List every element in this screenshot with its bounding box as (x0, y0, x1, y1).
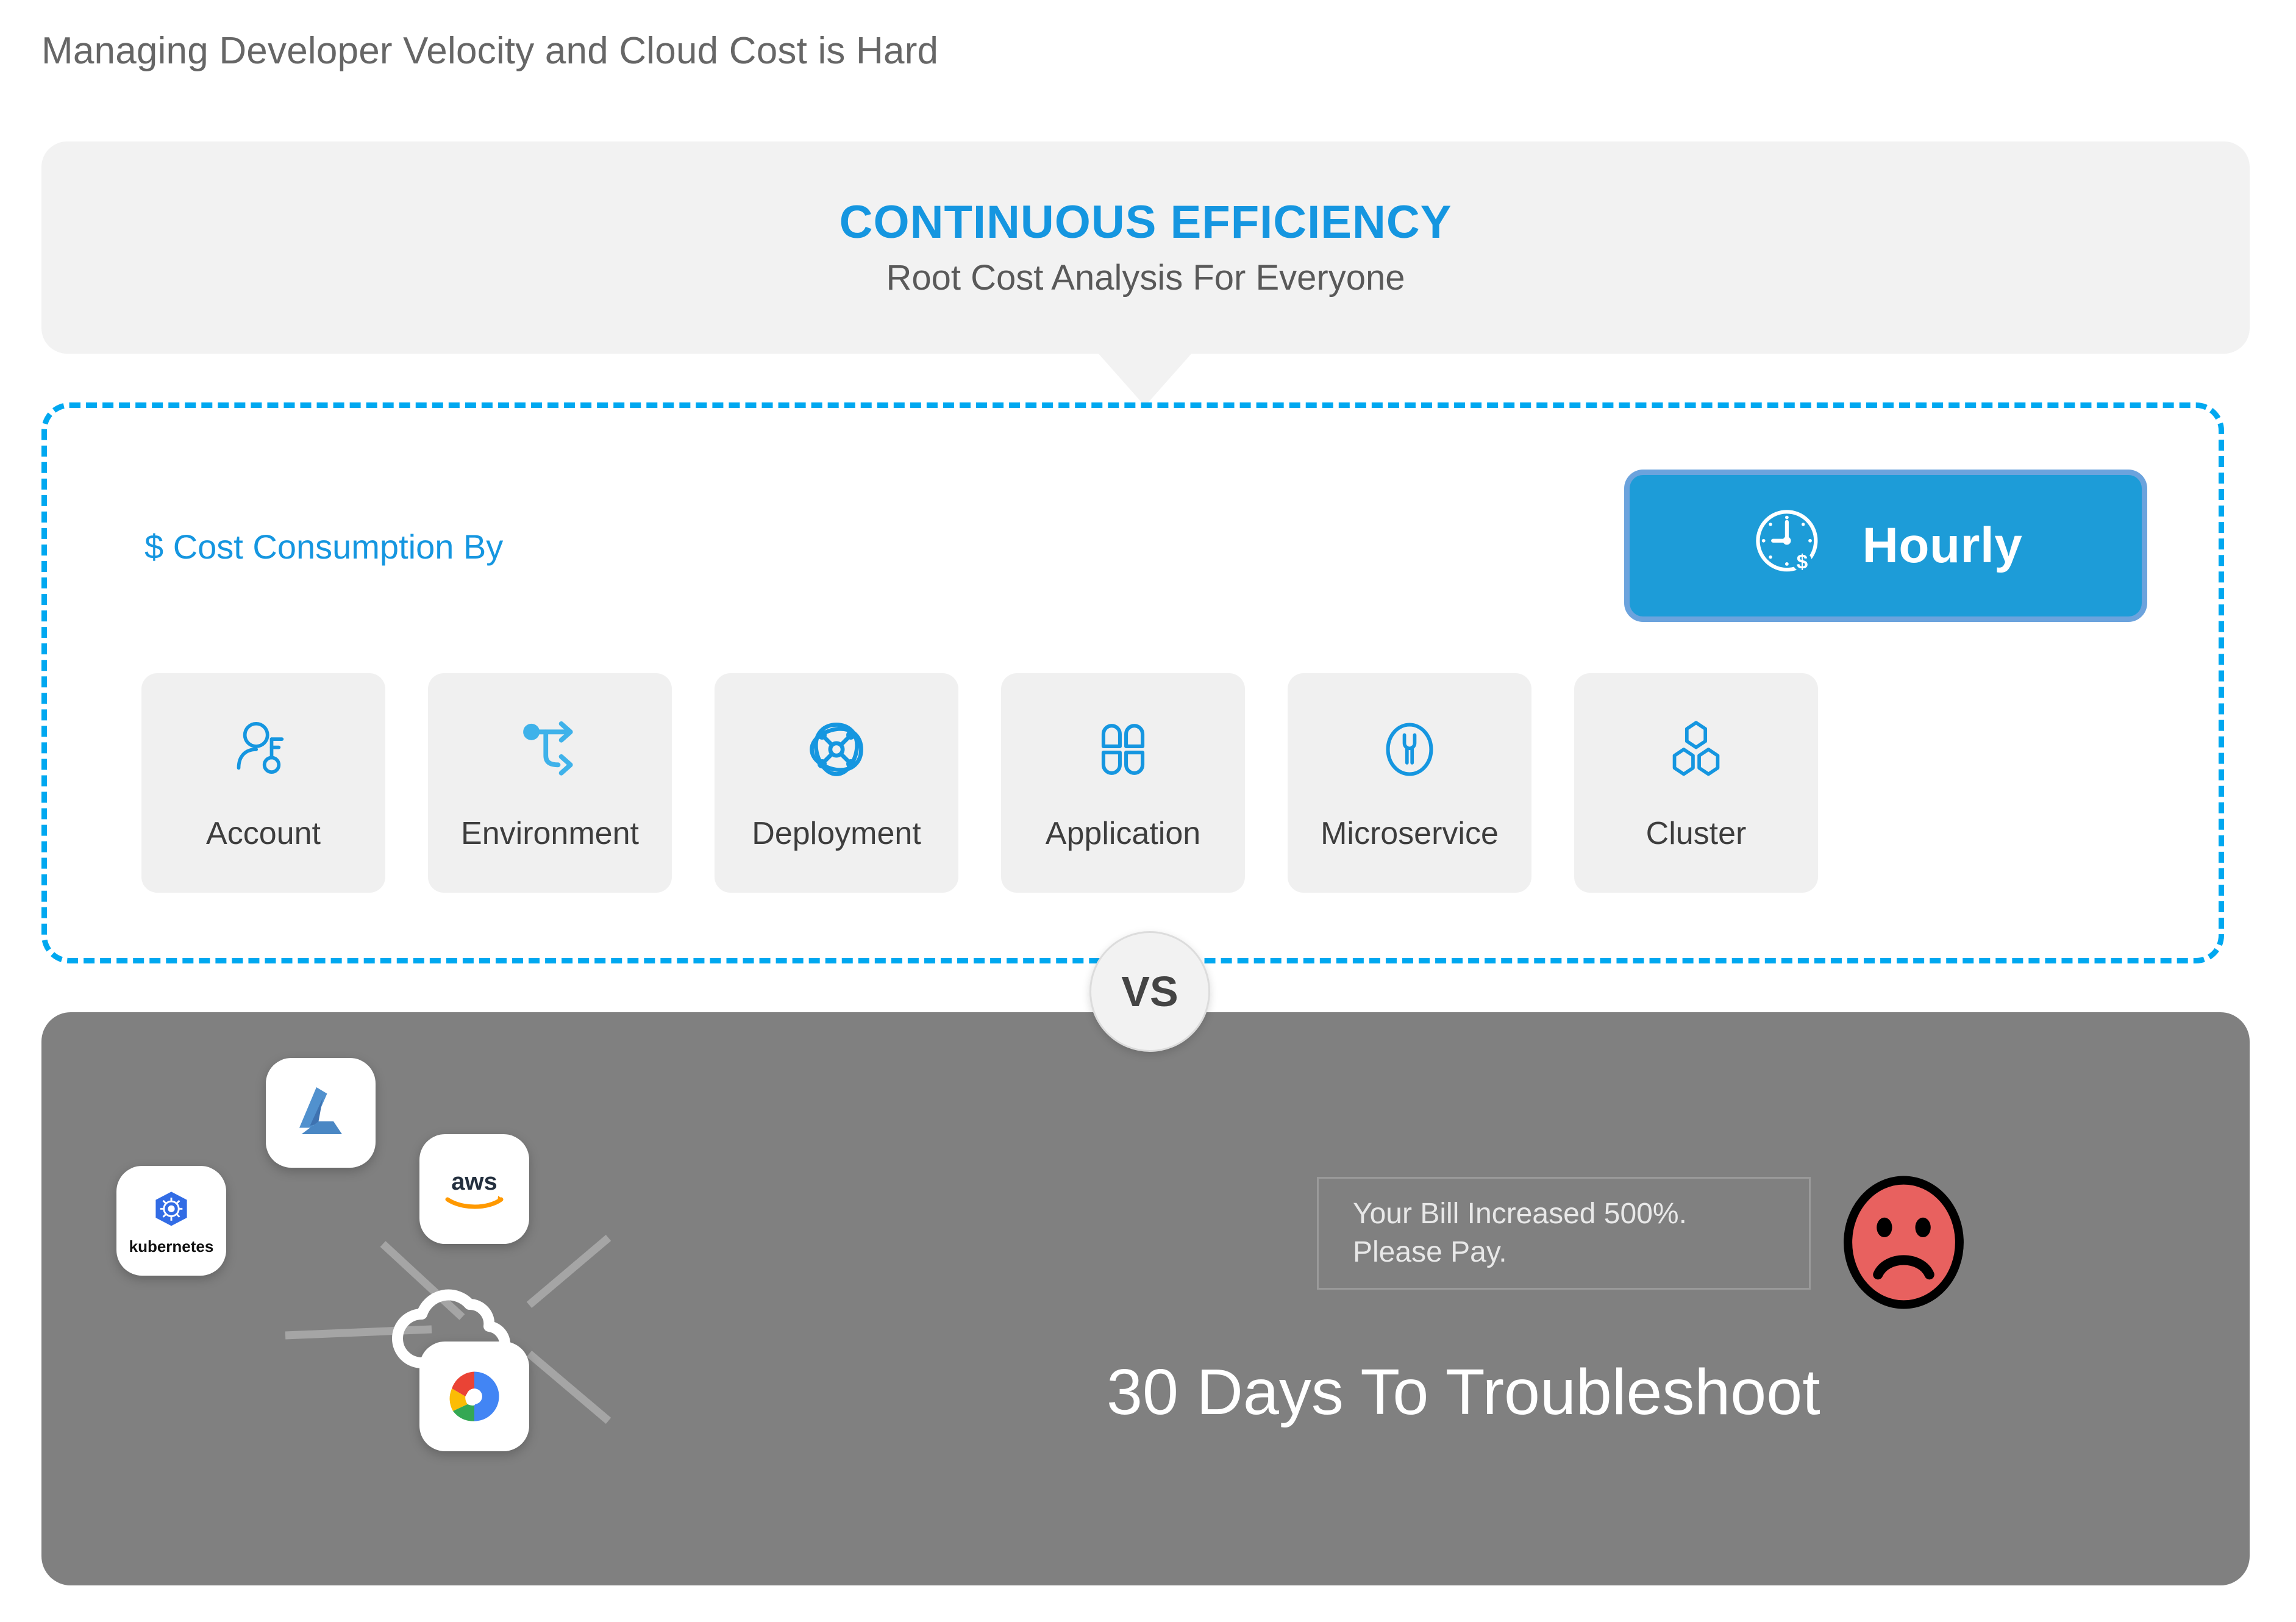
bill-notice-box: Your Bill Increased 500%. Please Pay. (1317, 1177, 1811, 1290)
four-petal-grid-icon (1090, 716, 1156, 782)
tile-account[interactable]: Account (141, 673, 385, 893)
page-title: Managing Developer Velocity and Cloud Co… (41, 29, 938, 73)
tile-environment[interactable]: Environment (428, 673, 672, 893)
clock-dollar-icon: $ (1749, 506, 1830, 586)
tile-application[interactable]: Application (1001, 673, 1245, 893)
tile-label: Environment (461, 818, 639, 849)
tile-label: Cluster (1646, 818, 1747, 849)
kubernetes-logo (148, 1187, 195, 1235)
cloud-icon (384, 1277, 518, 1375)
tile-label: Deployment (752, 818, 921, 849)
logo-tile-aws: aws (419, 1134, 529, 1244)
hourly-button[interactable]: $ Hourly (1630, 475, 2142, 616)
branch-arrows-icon (517, 716, 583, 782)
hourly-button-label: Hourly (1863, 521, 2023, 571)
slide-root: Managing Developer Velocity and Cloud Co… (0, 0, 2296, 1622)
aws-wordmark: aws (451, 1168, 497, 1195)
logo-tile-azure (266, 1058, 376, 1168)
vs-label: VS (1121, 970, 1178, 1013)
kubernetes-wordmark: kubernetes (129, 1238, 214, 1254)
bill-notice-line2: Please Pay. (1353, 1234, 1775, 1271)
hero-title: CONTINUOUS EFFICIENCY (840, 199, 1452, 246)
tile-label: Account (206, 818, 321, 849)
person-key-icon (230, 716, 296, 782)
svg-text:$: $ (1796, 551, 1808, 574)
hero-subtitle: Root Cost Analysis For Everyone (886, 260, 1405, 296)
logo-tile-kubernetes: kubernetes (116, 1166, 226, 1276)
vs-badge: VS (1089, 931, 1210, 1052)
bill-notice-line1: Your Bill Increased 500%. (1353, 1195, 1775, 1233)
atom-icon (804, 716, 869, 782)
hero-card: CONTINUOUS EFFICIENCY Root Cost Analysis… (41, 141, 2250, 354)
cost-consumption-label: $ Cost Consumption By (144, 527, 503, 566)
sad-face-icon (1835, 1174, 1972, 1311)
azure-logo (287, 1079, 355, 1147)
speech-bubble-tail (1097, 352, 1193, 406)
problem-panel: aws (41, 1012, 2250, 1585)
tile-label: Microservice (1321, 818, 1499, 849)
cost-consumption-panel: $ Cost Consumption By $ (41, 402, 2224, 963)
hexagons-icon (1663, 716, 1729, 782)
troubleshoot-headline: 30 Days To Troubleshoot (1107, 1360, 1820, 1424)
tile-label: Application (1046, 818, 1200, 849)
aws-logo: aws (437, 1162, 512, 1216)
tile-cluster[interactable]: Cluster (1574, 673, 1818, 893)
tile-microservice[interactable]: Microservice (1288, 673, 1531, 893)
tile-deployment[interactable]: Deployment (715, 673, 958, 893)
wrench-circle-icon (1377, 716, 1442, 782)
category-tiles: Account Environment (141, 673, 1818, 893)
